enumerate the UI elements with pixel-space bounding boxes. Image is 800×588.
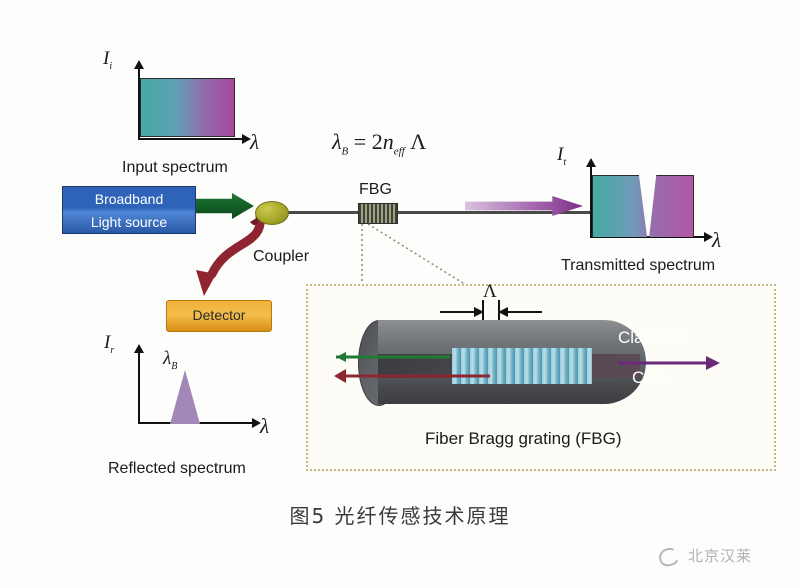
reflected-y-axis-label: Ir	[104, 332, 114, 356]
transmitted-spectrum-band	[592, 175, 692, 236]
inset-title: Fiber Bragg grating (FBG)	[425, 429, 622, 449]
input-y-axis-arrowhead	[134, 60, 144, 69]
coupler-label: Coupler	[253, 248, 309, 266]
figure-caption: 图5 光纤传感技术原理	[0, 500, 800, 529]
bragg-wavelength-label: λB	[163, 348, 177, 372]
source-line-1: Broadband	[63, 188, 195, 211]
detector-label: Detector	[193, 307, 246, 323]
input-x-axis-label: λ	[250, 130, 259, 155]
inset-beams	[330, 348, 660, 388]
input-spectrum-title: Input spectrum	[122, 159, 228, 177]
core-label: Core	[632, 368, 669, 388]
period-label: Λ	[483, 281, 497, 303]
bragg-formula: λB = 2neff Λ	[332, 129, 426, 157]
transmitted-y-axis-label: It	[557, 144, 566, 168]
reflected-spectrum-title: Reflected spectrum	[108, 460, 246, 478]
coupler-node[interactable]	[255, 201, 289, 225]
watermark: 北京汉莱	[655, 542, 752, 568]
transmitted-x-axis-label: λ	[712, 228, 721, 253]
detector-box[interactable]: Detector	[166, 300, 272, 332]
fiber-line	[258, 211, 590, 214]
cladding-label: Cladding	[618, 328, 685, 348]
reflected-y-axis	[138, 352, 140, 424]
transmitted-spectrum-title: Transmitted spectrum	[561, 257, 715, 275]
input-y-axis-label: Ii	[103, 48, 112, 72]
reflected-y-axis-arrowhead	[134, 344, 144, 353]
watermark-text: 北京汉莱	[688, 545, 752, 566]
leaf-swirl-icon	[655, 542, 681, 568]
reflected-x-axis-label: λ	[260, 414, 269, 439]
fbg-label: FBG	[359, 181, 392, 199]
input-x-axis	[138, 138, 243, 140]
input-spectrum-band	[140, 78, 235, 137]
reflected-peak	[170, 370, 200, 424]
transmitted-y-axis-arrowhead	[586, 158, 596, 167]
figure-canvas: Ii λ Input spectrum λB = 2neff Λ Broadba…	[0, 0, 800, 588]
fbg-element[interactable]	[358, 203, 398, 224]
